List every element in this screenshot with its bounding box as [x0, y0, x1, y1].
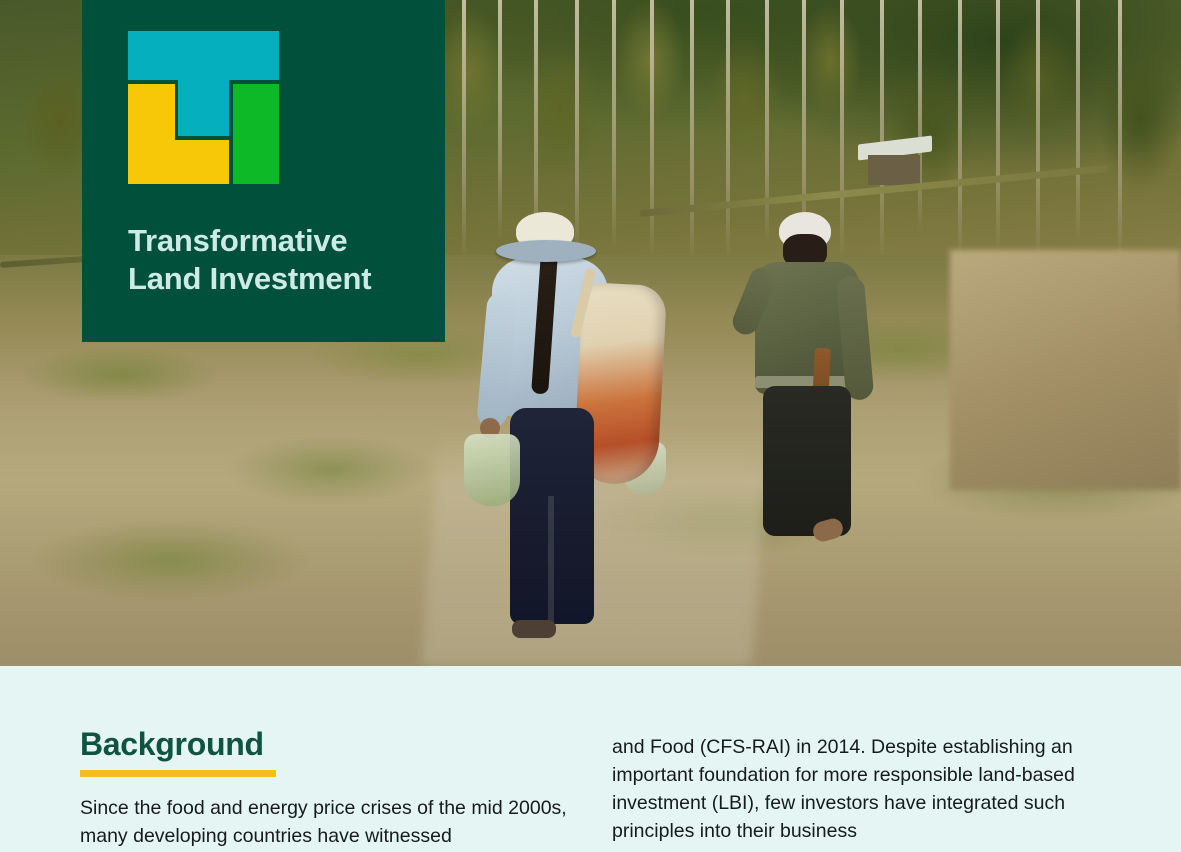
eroded-bank — [950, 250, 1181, 490]
section-heading: Background — [80, 666, 580, 763]
hero-banner: Transformative Land Investment — [0, 0, 1181, 666]
content-column-left: Background Since the food and energy pri… — [80, 666, 580, 850]
woman-shoe — [512, 620, 556, 638]
woman-sun-hat — [496, 240, 596, 262]
tli-monogram-icon — [128, 31, 279, 184]
logo-panel: Transformative Land Investment — [82, 0, 445, 342]
page-root: Transformative Land Investment Backgroun… — [0, 0, 1181, 852]
hut-body — [868, 155, 920, 185]
logo-title-line-1: Transformative — [128, 222, 428, 260]
logo-title: Transformative Land Investment — [128, 222, 428, 299]
monogram-teal-stem — [178, 80, 229, 136]
stilt-hut — [858, 140, 932, 186]
content-section: Background Since the food and energy pri… — [0, 666, 1181, 852]
body-paragraph-left: Since the food and energy price crises o… — [80, 794, 580, 850]
logo-title-line-2: Land Investment — [128, 260, 428, 298]
woman-bag-left — [464, 434, 520, 506]
figure-man — [735, 208, 885, 558]
woman-leg-split — [548, 496, 554, 624]
heading-underline-rule — [80, 770, 276, 777]
man-legs — [763, 386, 851, 536]
figure-woman — [470, 196, 660, 656]
monogram-yellow-horizontal — [128, 140, 229, 184]
monogram-teal-top-bar — [128, 31, 279, 80]
body-paragraph-right: and Food (CFS-RAI) in 2014. Despite esta… — [612, 666, 1097, 845]
monogram-green-bar — [233, 84, 279, 184]
content-column-right: and Food (CFS-RAI) in 2014. Despite esta… — [612, 666, 1097, 845]
